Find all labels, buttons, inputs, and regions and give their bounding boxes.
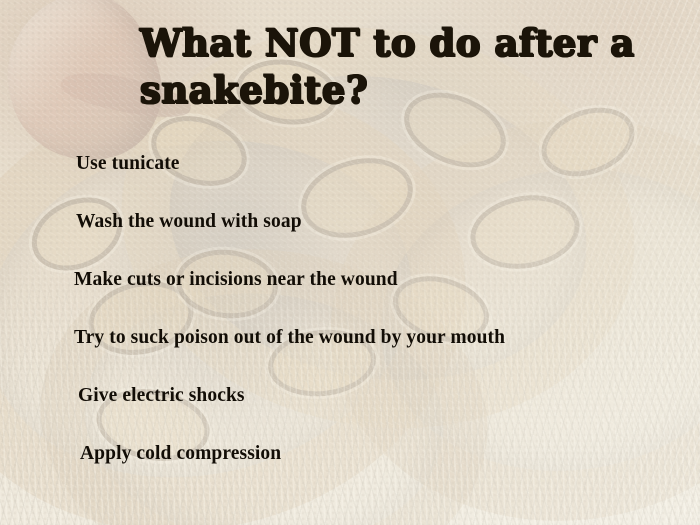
- slide-title: What NOT to do after a snakebite?: [140, 20, 680, 114]
- bullet-item: Apply cold compression: [0, 442, 700, 500]
- bullet-item: Give electric shocks: [0, 384, 700, 442]
- slide-content: What NOT to do after a snakebite? Use tu…: [0, 0, 700, 525]
- bullet-item: Make cuts or incisions near the wound: [0, 268, 700, 326]
- bullet-list: Use tunicate Wash the wound with soap Ma…: [0, 152, 700, 500]
- bullet-item: Use tunicate: [0, 152, 700, 210]
- bullet-item: Try to suck poison out of the wound by y…: [0, 326, 700, 384]
- bullet-item: Wash the wound with soap: [0, 210, 700, 268]
- snakebite-info-slide: What NOT to do after a snakebite? Use tu…: [0, 0, 700, 525]
